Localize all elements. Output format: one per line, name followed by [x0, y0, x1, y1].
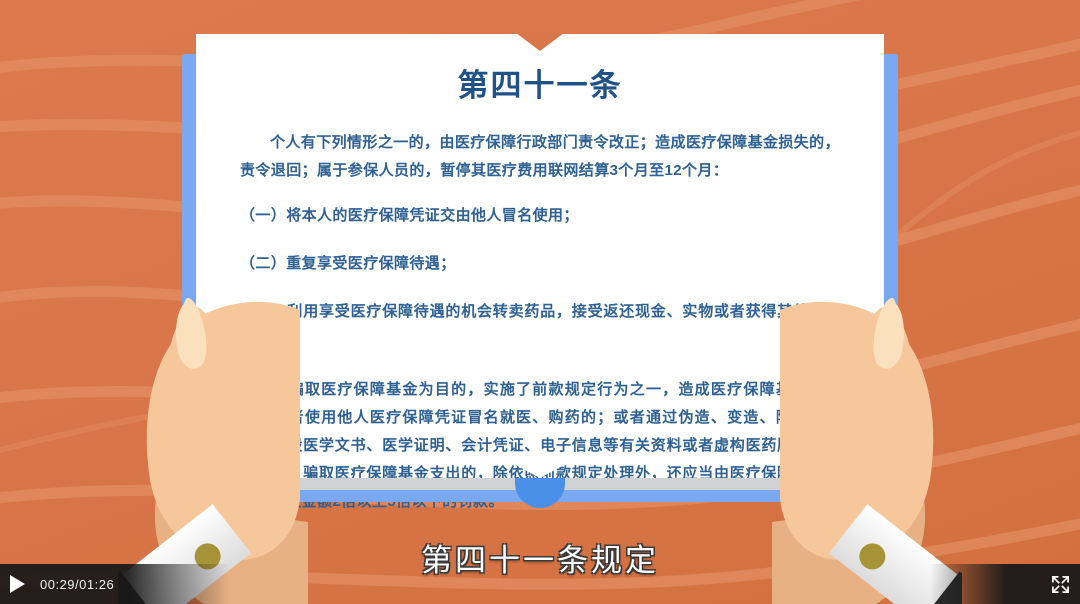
page-top-notch: [516, 33, 564, 51]
play-button[interactable]: [0, 564, 34, 604]
document-paragraph-intro: 个人有下列情形之一的，由医疗保障行政部门责令改正；造成医疗保障基金损失的，责令退…: [240, 129, 840, 185]
fullscreen-button[interactable]: [1040, 564, 1080, 604]
document-list-item-2: （二）重复享受医疗保障待遇；: [240, 250, 840, 278]
video-player-stage: 第四十一条 个人有下列情形之一的，由医疗保障行政部门责令改正；造成医疗保障基金损…: [0, 0, 1080, 604]
document-list-item-3: （三）利用享受医疗保障待遇的机会转卖药品，接受返还现金、实物或者获得其他非法利益…: [240, 298, 840, 354]
player-right-controls: [930, 564, 1080, 604]
player-left-controls: 00:29/01:26: [0, 564, 230, 604]
play-icon: [10, 575, 25, 593]
page-content: 第四十一条 个人有下列情形之一的，由医疗保障行政部门责令改正；造成医疗保障基金损…: [240, 60, 840, 516]
fullscreen-icon: [1051, 575, 1070, 594]
document-list-item-1: （一）将本人的医疗保障凭证交由他人冒名使用；: [240, 202, 840, 230]
time-display: 00:29/01:26: [40, 577, 114, 592]
page-title: 第四十一条: [240, 60, 840, 105]
